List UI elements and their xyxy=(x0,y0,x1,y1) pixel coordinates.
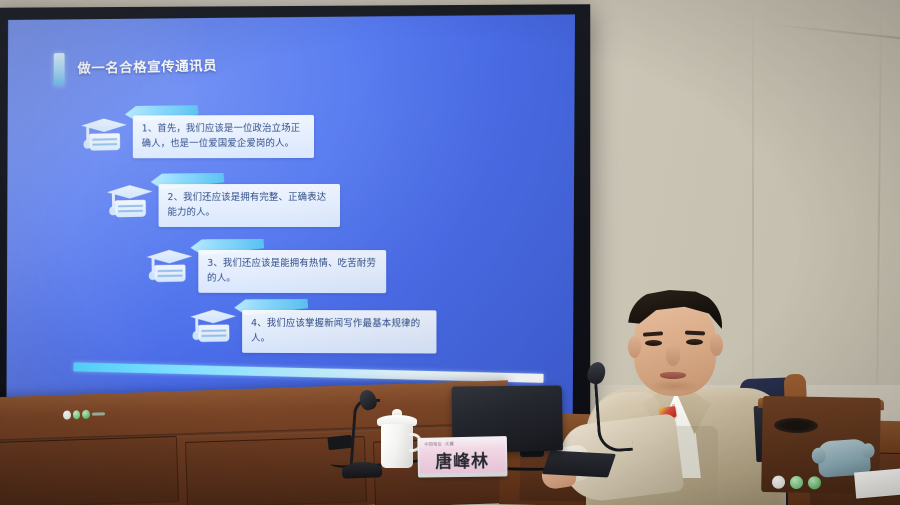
graduation-cap-icon xyxy=(105,179,155,222)
indicator-light-white xyxy=(63,410,71,419)
desk-panel xyxy=(0,436,179,505)
desk-indicator-lights xyxy=(63,408,105,419)
indicator-light-green xyxy=(72,410,80,419)
nameplate-holder: 中国电信 ·天翼 唐峰林 xyxy=(417,436,507,478)
indicator-light-white xyxy=(772,476,785,489)
slide-footer-bar xyxy=(73,362,543,382)
person-ear-left xyxy=(628,336,641,358)
graduation-cap-icon xyxy=(188,303,238,346)
cable-plug xyxy=(327,435,352,450)
indicator-light-green xyxy=(808,476,821,489)
person-ear-right xyxy=(710,334,723,356)
person-chin-shadow xyxy=(650,380,698,392)
person-eye-right xyxy=(686,339,703,345)
projection-screen: 做一名合格宣传通讯员 1、首先，我们应该是一位政治立场正确人，也是一位爱国爱企爱… xyxy=(6,14,575,419)
indicator-stem xyxy=(92,412,105,415)
laptop-base[interactable] xyxy=(542,450,616,477)
microphone-base[interactable] xyxy=(342,461,383,478)
person-eye-left xyxy=(645,340,662,346)
presentation-slide: 做一名合格宣传通讯员 1、首先，我们应该是一位政治立场正确人，也是一位爱国爱企爱… xyxy=(6,14,575,419)
projection-screen-bezel: 做一名合格宣传通讯员 1、首先，我们应该是一位政治立场正确人，也是一位爱国爱企爱… xyxy=(0,4,590,438)
console-indicator-lights xyxy=(772,476,821,490)
bullet-text-3: 3、我们还应该是能拥有热情、吃苦耐劳的人。 xyxy=(198,250,386,293)
title-accent-bar xyxy=(54,53,65,86)
indicator-light-green xyxy=(790,476,803,489)
nameplate-name: 唐峰林 xyxy=(419,446,505,472)
bullet-text-4: 4、我们应该掌握新闻写作最基本规律的人。 xyxy=(242,310,436,354)
nameplate-card: 中国电信 ·天翼 唐峰林 xyxy=(419,438,505,474)
graduation-cap-icon xyxy=(79,112,129,155)
slide-title: 做一名合格宣传通讯员 xyxy=(77,54,217,77)
person-mouth xyxy=(660,372,686,379)
bullet-text-1: 1、首先，我们应该是一位政治立场正确人，也是一位爱国爱企爱岗的人。 xyxy=(133,115,314,158)
papers-stack xyxy=(854,467,900,498)
bullet-text-2: 2、我们还应该是拥有完整、正确表达能力的人。 xyxy=(159,184,340,227)
indicator-light-green xyxy=(82,409,90,418)
person-nose xyxy=(666,346,680,366)
graduation-cap-icon xyxy=(144,244,194,287)
scene-root: 做一名合格宣传通讯员 1、首先，我们应该是一位政治立场正确人，也是一位爱国爱企爱… xyxy=(0,0,900,505)
